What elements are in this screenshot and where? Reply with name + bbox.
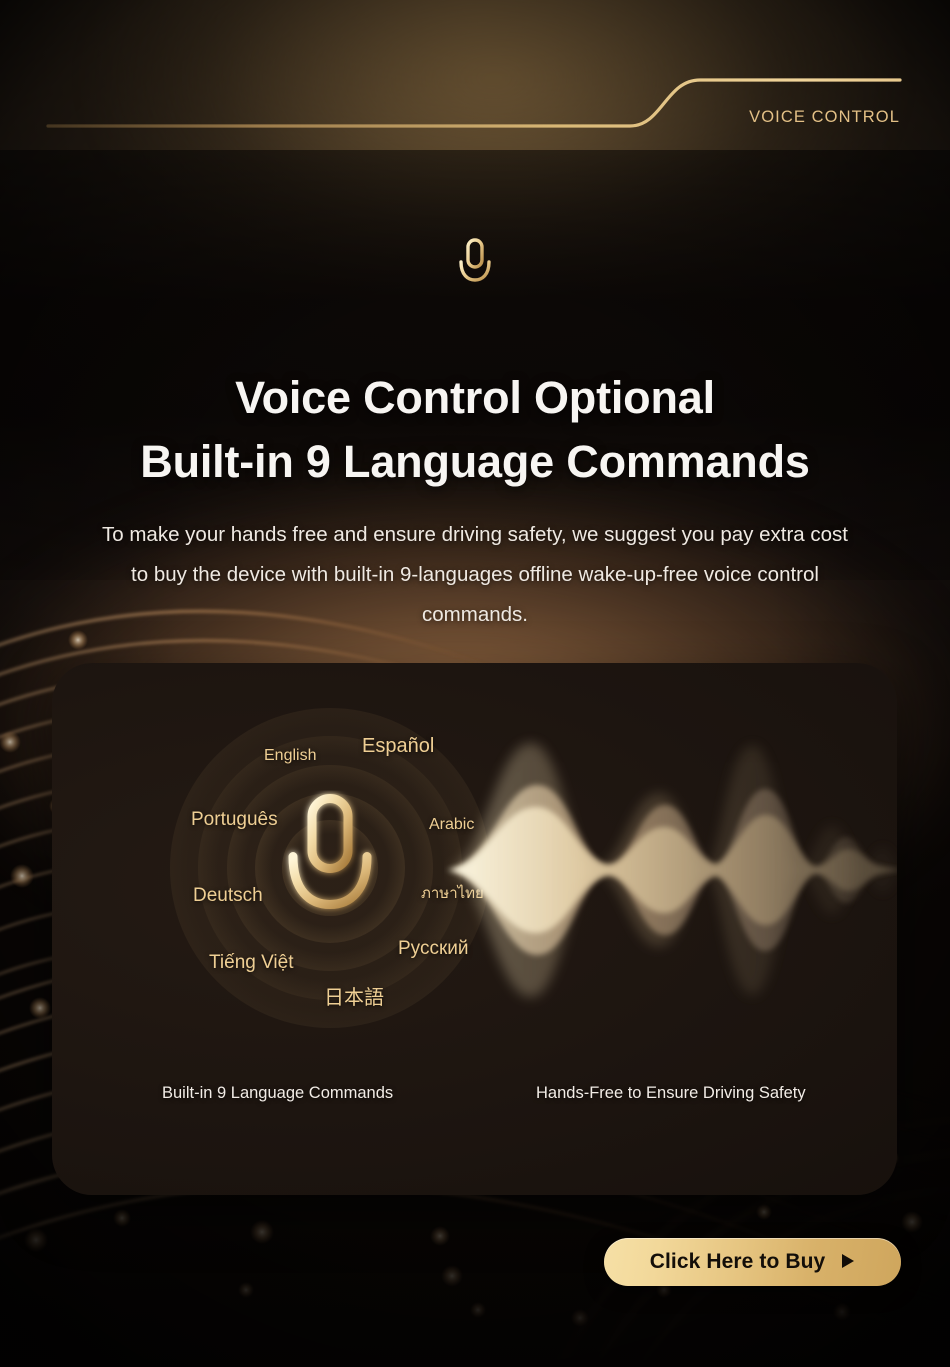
page-subcopy: To make your hands free and ensure drivi… <box>95 515 855 636</box>
language-label-english: English <box>264 747 316 765</box>
language-ring-cluster <box>170 708 490 1028</box>
language-label-espanol: Español <box>362 735 434 758</box>
card-caption-left: Built-in 9 Language Commands <box>162 1084 393 1103</box>
page-headline: Voice Control Optional Built-in 9 Langua… <box>0 366 950 494</box>
hero-microphone-icon <box>0 236 950 299</box>
click-here-to-buy-button[interactable]: Click Here to Buy <box>604 1238 901 1286</box>
language-label-vietnamese: Tiếng Việt <box>209 952 294 974</box>
language-label-japanese: 日本語 <box>324 981 384 1010</box>
audio-waveform-graphic <box>444 725 897 1015</box>
cta-label: Click Here to Buy <box>650 1250 826 1274</box>
header-divider <box>0 62 950 148</box>
headline-line-1: Voice Control Optional <box>235 372 715 423</box>
language-label-portugues: Português <box>191 809 278 831</box>
card-microphone-icon <box>268 791 392 946</box>
feature-card: English Español Português Arabic Deutsch… <box>52 663 897 1195</box>
card-caption-right: Hands-Free to Ensure Driving Safety <box>536 1084 806 1103</box>
play-triangle-icon <box>841 1253 855 1272</box>
language-label-deutsch: Deutsch <box>193 885 263 907</box>
headline-line-2: Built-in 9 Language Commands <box>0 430 950 494</box>
header-label: VOICE CONTROL <box>749 108 900 127</box>
voice-control-promo-page: VOICE CONTROL Voice Control Optional Bui… <box>0 0 950 1367</box>
